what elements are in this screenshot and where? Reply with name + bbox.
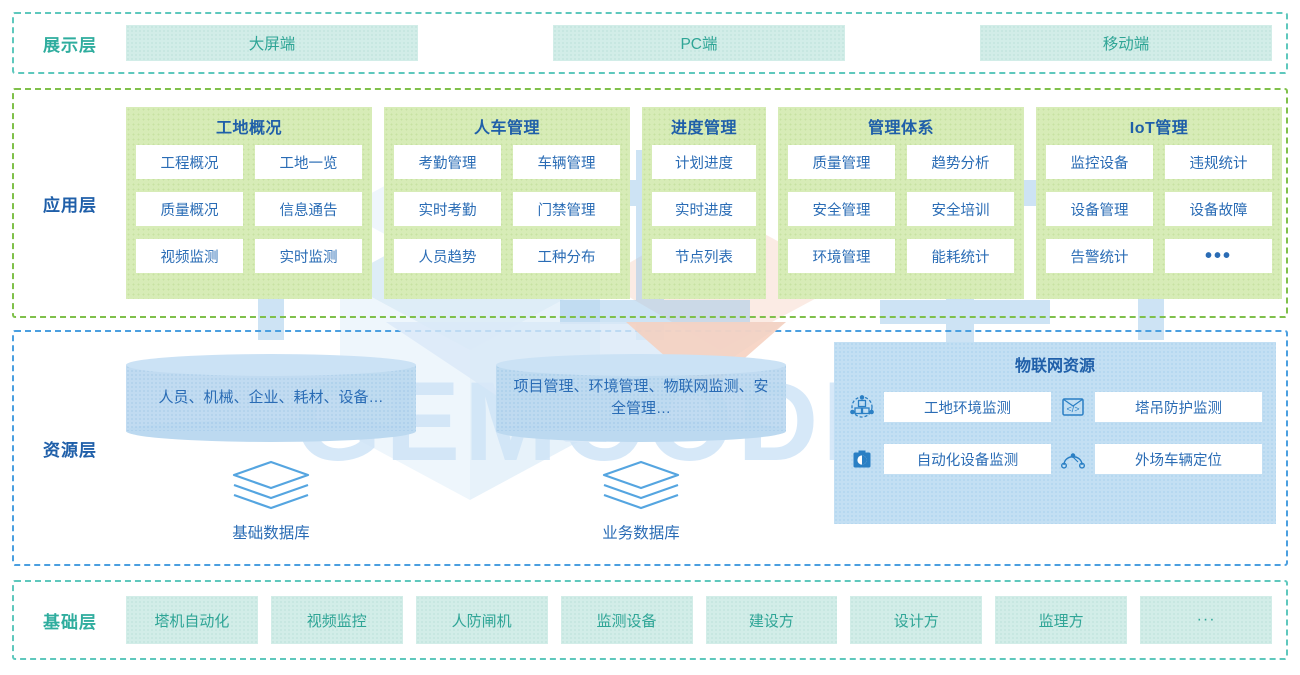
iot-item-label: 外场车辆定位	[1095, 444, 1262, 474]
iot-item-label: 工地环境监测	[884, 392, 1051, 422]
app-item[interactable]: 质量管理	[788, 145, 895, 179]
app-group-people-vehicle: 人车管理 考勤管理 车辆管理 实时考勤 门禁管理 人员趋势 工种分布	[384, 107, 630, 299]
basic-database-caption: 基础数据库	[126, 521, 416, 543]
app-item[interactable]: 能耗统计	[907, 239, 1014, 273]
app-item[interactable]: 质量概况	[136, 192, 243, 226]
device-monitor-icon	[848, 445, 876, 473]
display-layer-label: 展示层	[14, 31, 126, 56]
base-box-tower-crane[interactable]: 塔机自动化	[126, 596, 258, 644]
basic-database-text: 人员、机械、企业、耗材、设备…	[126, 354, 416, 442]
base-layer: 基础层 塔机自动化 视频监控 人防闸机 监测设备 建设方 设计方 监理方 ···	[12, 580, 1288, 660]
app-item[interactable]: 考勤管理	[394, 145, 501, 179]
basic-database-group: 人员、机械、企业、耗材、设备… 基础数据库	[126, 354, 416, 543]
network-nodes-icon	[848, 393, 876, 421]
application-layer-label: 应用层	[14, 191, 126, 216]
app-group-management-system: 管理体系 质量管理 趋势分析 安全管理 安全培训 环境管理 能耗统计	[778, 107, 1024, 299]
base-box-monitoring-equipment[interactable]: 监测设备	[561, 596, 693, 644]
application-groups: 工地概况 工程概况 工地一览 质量概况 信息通告 视频监测 实时监测 人车管理 …	[126, 107, 1296, 299]
iot-item-automated-equipment[interactable]: 自动化设备监测	[848, 444, 1051, 474]
business-database-caption: 业务数据库	[496, 521, 786, 543]
iot-resources-panel: 物联网资源 工地环境监测	[834, 342, 1276, 524]
app-item[interactable]: 告警统计	[1046, 239, 1153, 273]
iot-item-site-environment[interactable]: 工地环境监测	[848, 392, 1051, 422]
base-box-more[interactable]: ···	[1140, 596, 1272, 644]
app-item[interactable]: 工程概况	[136, 145, 243, 179]
app-group-title: 管理体系	[868, 114, 934, 138]
base-box-supervisor[interactable]: 监理方	[995, 596, 1127, 644]
app-group-iot-management: IoT管理 监控设备 违规统计 设备管理 设备故障 告警统计 •••	[1036, 107, 1282, 299]
basic-database-cylinder: 人员、机械、企业、耗材、设备…	[126, 354, 416, 442]
display-layer: 展示层 大屏端 PC端 移动端	[12, 12, 1288, 74]
app-item[interactable]: 门禁管理	[513, 192, 620, 226]
app-item[interactable]: 工地一览	[255, 145, 362, 179]
app-group-title: 工地概况	[216, 114, 282, 138]
iot-panel-title: 物联网资源	[848, 352, 1262, 376]
app-item[interactable]: 节点列表	[652, 239, 756, 273]
base-box-designer[interactable]: 设计方	[850, 596, 982, 644]
app-group-title: 人车管理	[474, 114, 540, 138]
display-layer-boxes: 大屏端 PC端 移动端	[126, 25, 1286, 61]
app-item[interactable]: 安全培训	[907, 192, 1014, 226]
app-group-title: 进度管理	[671, 114, 737, 138]
iot-item-label: 塔吊防护监测	[1095, 392, 1262, 422]
app-item[interactable]: 实时进度	[652, 192, 756, 226]
resource-layer: 资源层 人员、机械、企业、耗材、设备… 基础数据库	[12, 330, 1288, 566]
code-brackets-icon: </>	[1059, 393, 1087, 421]
app-item-more[interactable]: •••	[1165, 239, 1272, 273]
database-stack-icon	[600, 458, 682, 512]
app-item[interactable]: 趋势分析	[907, 145, 1014, 179]
iot-item-label: 自动化设备监测	[884, 444, 1051, 474]
app-item[interactable]: 设备管理	[1046, 192, 1153, 226]
display-box-large-screen[interactable]: 大屏端	[126, 25, 418, 61]
base-box-gate-machine[interactable]: 人防闸机	[416, 596, 548, 644]
app-item[interactable]: 车辆管理	[513, 145, 620, 179]
base-box-video-surveillance[interactable]: 视频监控	[271, 596, 403, 644]
svg-text:</>: </>	[1066, 404, 1079, 414]
app-item[interactable]: 工种分布	[513, 239, 620, 273]
display-box-pc[interactable]: PC端	[553, 25, 845, 61]
app-item[interactable]: 违规统计	[1165, 145, 1272, 179]
app-item[interactable]: 设备故障	[1165, 192, 1272, 226]
base-box-builder[interactable]: 建设方	[706, 596, 838, 644]
app-item[interactable]: 环境管理	[788, 239, 895, 273]
app-item[interactable]: 视频监测	[136, 239, 243, 273]
iot-item-vehicle-location[interactable]: 外场车辆定位	[1059, 444, 1262, 474]
app-item[interactable]: 人员趋势	[394, 239, 501, 273]
business-database-group: 项目管理、环境管理、物联网监测、安全管理… 业务数据库	[496, 354, 786, 543]
application-layer: 应用层 工地概况 工程概况 工地一览 质量概况 信息通告 视频监测 实时监测 人…	[12, 88, 1288, 318]
base-layer-label: 基础层	[14, 608, 126, 633]
database-stack-icon	[230, 458, 312, 512]
app-item[interactable]: 安全管理	[788, 192, 895, 226]
base-layer-boxes: 塔机自动化 视频监控 人防闸机 监测设备 建设方 设计方 监理方 ···	[126, 596, 1286, 644]
resource-layer-label: 资源层	[14, 436, 126, 461]
display-box-mobile[interactable]: 移动端	[980, 25, 1272, 61]
app-item[interactable]: 信息通告	[255, 192, 362, 226]
iot-item-crane-protection[interactable]: </> 塔吊防护监测	[1059, 392, 1262, 422]
business-database-cylinder: 项目管理、环境管理、物联网监测、安全管理…	[496, 354, 786, 442]
app-group-progress: 进度管理 计划进度 实时进度 节点列表	[642, 107, 766, 299]
app-group-title: IoT管理	[1130, 114, 1189, 138]
app-item[interactable]: 计划进度	[652, 145, 756, 179]
app-group-site-overview: 工地概况 工程概况 工地一览 质量概况 信息通告 视频监测 实时监测	[126, 107, 372, 299]
route-location-icon	[1059, 445, 1087, 473]
resource-layer-body: 人员、机械、企业、耗材、设备… 基础数据库 项目管理、环境管理、物联网监测、安全…	[126, 332, 1286, 564]
app-item[interactable]: 监控设备	[1046, 145, 1153, 179]
app-item[interactable]: 实时监测	[255, 239, 362, 273]
business-database-text: 项目管理、环境管理、物联网监测、安全管理…	[496, 354, 786, 442]
app-item[interactable]: 实时考勤	[394, 192, 501, 226]
